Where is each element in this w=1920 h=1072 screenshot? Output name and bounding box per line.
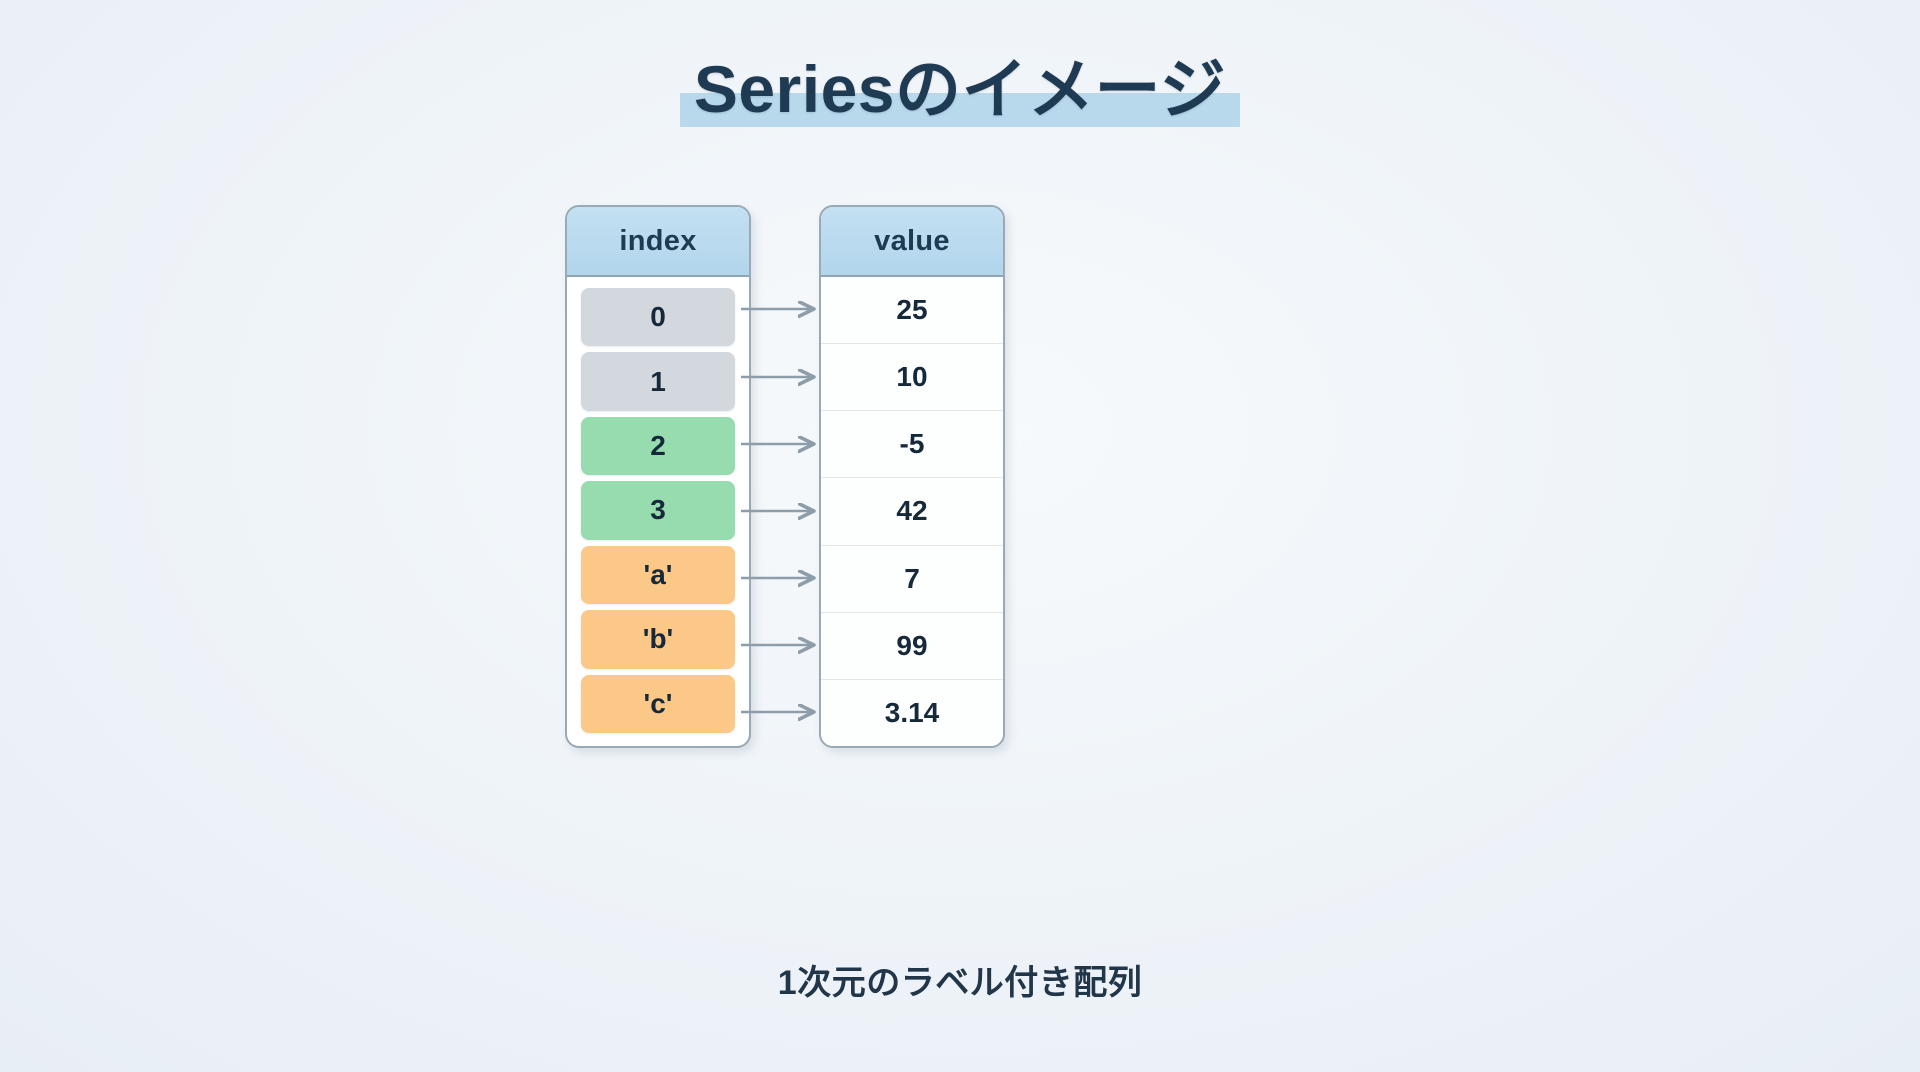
index-column-header: index bbox=[567, 207, 749, 277]
value-cell[interactable]: 10 bbox=[821, 344, 1003, 411]
diagram-caption: 1次元のラベル付き配列 bbox=[0, 955, 1920, 1004]
page-title-area: Seriesのイメージ bbox=[0, 48, 1920, 131]
index-cell[interactable]: 'b' bbox=[581, 610, 735, 668]
value-cell[interactable]: 3.14 bbox=[821, 680, 1003, 746]
value-column-header: value bbox=[821, 207, 1003, 277]
index-cell[interactable]: 3 bbox=[581, 481, 735, 539]
index-cell[interactable]: 1 bbox=[581, 352, 735, 410]
index-cell[interactable]: 'c' bbox=[581, 675, 735, 733]
arrow-right-icon bbox=[741, 309, 813, 712]
value-column-card: value 25 10 -5 42 7 99 3.14 bbox=[819, 205, 1005, 748]
index-column-body: 0 1 2 3 'a' 'b' 'c' bbox=[567, 277, 749, 746]
value-cell[interactable]: -5 bbox=[821, 411, 1003, 478]
value-cell[interactable]: 25 bbox=[821, 277, 1003, 344]
value-cell[interactable]: 42 bbox=[821, 478, 1003, 545]
series-diagram: index 0 1 2 3 'a' 'b' 'c' value 25 10 -5… bbox=[565, 205, 1005, 750]
index-cell[interactable]: 'a' bbox=[581, 546, 735, 604]
index-cell[interactable]: 0 bbox=[581, 288, 735, 346]
page-title-wrapper: Seriesのイメージ bbox=[680, 48, 1240, 131]
page-title: Seriesのイメージ bbox=[694, 48, 1226, 131]
value-column-body: 25 10 -5 42 7 99 3.14 bbox=[821, 277, 1003, 746]
index-column-card: index 0 1 2 3 'a' 'b' 'c' bbox=[565, 205, 751, 748]
index-cell[interactable]: 2 bbox=[581, 417, 735, 475]
value-cell[interactable]: 99 bbox=[821, 613, 1003, 680]
value-cell[interactable]: 7 bbox=[821, 546, 1003, 613]
